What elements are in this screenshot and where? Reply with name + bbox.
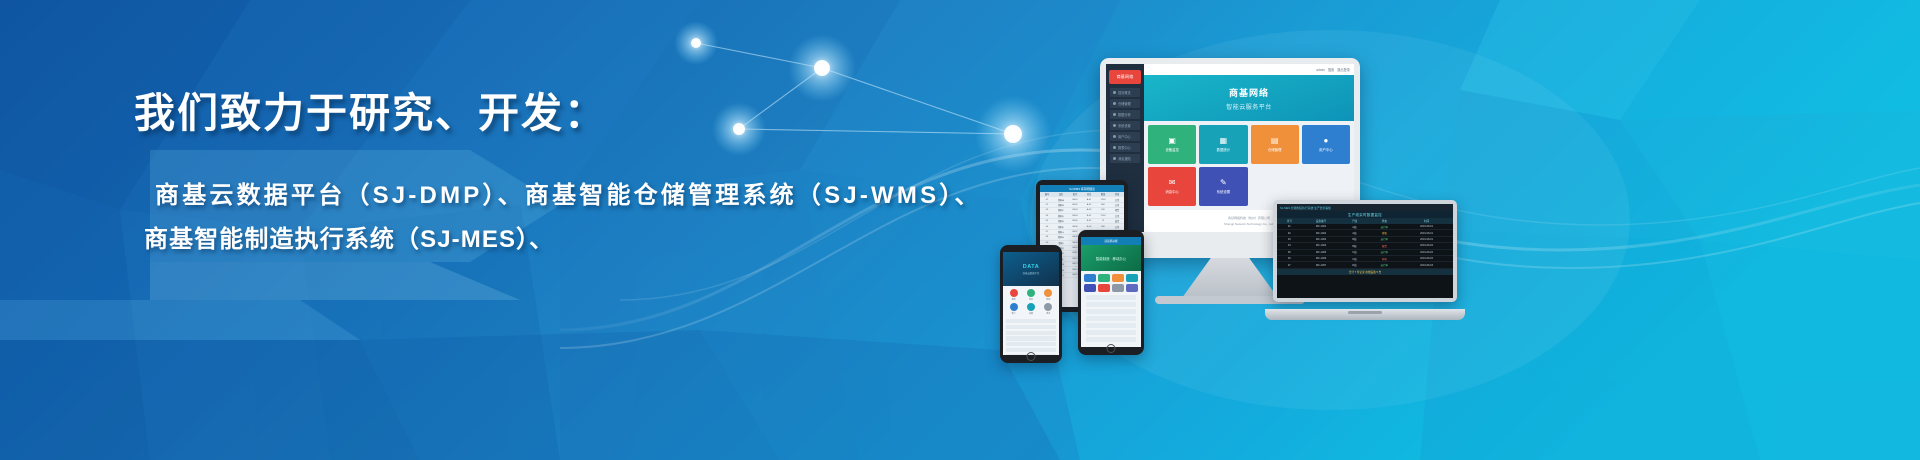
list-item[interactable] [1086, 330, 1136, 335]
mobile-banner-text: 智能制造 · 移动办公 [1096, 256, 1126, 261]
cell-time: 2019-08-02 [1400, 257, 1453, 260]
truck-icon [1044, 289, 1052, 297]
sidebar-item-0[interactable]: 首页概览 [1110, 88, 1140, 97]
list-item[interactable] [1086, 309, 1136, 314]
brand-logo: 商基网络 [1109, 70, 1141, 84]
table-cell: 06 [1040, 226, 1054, 228]
list-item[interactable] [1086, 337, 1136, 342]
gear-icon [1027, 303, 1035, 311]
table-cell: 物料A [1054, 198, 1068, 202]
phone-right-mockup: 商基移动端 智能制造 · 移动办公 [1078, 230, 1144, 355]
table-cell: 缺货 [1110, 219, 1124, 223]
table-cell: 物料F [1054, 225, 1068, 229]
cell-no: 07 [1277, 264, 1302, 267]
menu-item-5[interactable]: 更多 [1041, 303, 1056, 315]
list-item[interactable] [1086, 316, 1136, 321]
table-cell: 09 [1040, 242, 1054, 244]
dmp-hero: DATA 商基云数据平台 [1003, 252, 1059, 286]
cell-no: 05 [1277, 251, 1302, 254]
footer-line-0: 商基网络科技（杭州）有限公司 [1228, 216, 1270, 220]
col-3: 状态 [1369, 219, 1401, 223]
sidebar-label-0: 首页概览 [1118, 90, 1131, 95]
table-cell: 预警 [1110, 208, 1124, 212]
table-cell: 正常 [1110, 225, 1124, 229]
user-icon[interactable] [1112, 284, 1124, 292]
doc-icon [1113, 146, 1116, 149]
box-icon [1027, 289, 1035, 297]
chart-icon: ▦ [1220, 137, 1228, 145]
box-icon[interactable] [1112, 274, 1124, 282]
dashboard-topbar: admin 搜索 退出登录 [1144, 64, 1354, 75]
mobile-body [1081, 271, 1141, 347]
cell-time: 2019-08-02 [1400, 244, 1453, 247]
table-cell: 08 [1040, 236, 1054, 238]
tile-4[interactable]: ✉ 消息中心 [1148, 167, 1196, 206]
table-cell: 860 [1096, 204, 1110, 206]
mes-subtitle: 生产线实时数据监控 [1348, 212, 1382, 217]
list-item[interactable] [1006, 342, 1056, 346]
col-4: 数量 [1096, 192, 1110, 196]
tile-label-4: 消息中心 [1165, 189, 1179, 194]
user-icon [1010, 303, 1018, 311]
cell-time: 2019-08-02 [1400, 251, 1453, 254]
bell-icon[interactable] [1098, 284, 1110, 292]
home-button[interactable] [1107, 344, 1116, 353]
table-cell: 05 [1040, 220, 1054, 222]
cell-line: C线 [1340, 257, 1368, 261]
product-line-2: 商基智能制造执行系统（SJ-MES）、 [144, 228, 554, 252]
gear-icon [1113, 124, 1116, 127]
page-title: 我们致力于研究、开发： [134, 93, 607, 134]
table-cell: 07 [1040, 231, 1054, 233]
banner-copy: 我们致力于研究、开发： 商基云数据平台（SJ-DMP）、商基智能仓储管理系统（S… [0, 0, 980, 460]
status-badge: 运行中 [1369, 225, 1401, 229]
device-mockup-group: 商基网络 首页概览 仓储管理 [1000, 0, 1920, 460]
cell-code: MC-1001 [1302, 225, 1341, 228]
wms-titlebar: SJ-WMS 库存明细表 [1040, 185, 1124, 192]
menu-item-1[interactable]: 库存 [1023, 289, 1038, 301]
table-cell: 正常 [1110, 198, 1124, 202]
cell-code: MC-1006 [1302, 257, 1341, 260]
sidebar-item-1[interactable]: 仓储管理 [1110, 99, 1140, 108]
col-2: 批次 [1068, 192, 1082, 196]
list-item[interactable] [1006, 319, 1056, 323]
brand-name: 商基网络 [1117, 74, 1134, 80]
status-badge: 运行中 [1369, 250, 1401, 254]
menu-label-2: 物流 [1046, 298, 1050, 301]
tile-label-0: 设备监控 [1165, 147, 1179, 152]
table-cell: 物料E [1054, 219, 1068, 223]
table-cell: 04 [1040, 215, 1054, 217]
gear-icon[interactable] [1126, 274, 1138, 282]
more-icon [1044, 303, 1052, 311]
cell-line: B线 [1340, 237, 1368, 241]
status-badge: 运行中 [1369, 263, 1401, 267]
sidebar-label-6: 消息通知 [1118, 156, 1131, 161]
cell-code: MC-1005 [1302, 251, 1341, 254]
table-cell: 物料D [1054, 214, 1068, 218]
sidebar-item-4[interactable]: 用户中心 [1110, 132, 1140, 141]
table-cell: 物料C [1054, 208, 1068, 212]
more-icon[interactable] [1126, 284, 1138, 292]
col-2: 产线 [1340, 219, 1368, 223]
account-label[interactable]: admin [1316, 68, 1325, 72]
sidebar-label-1: 仓储管理 [1118, 101, 1131, 106]
sidebar-item-5[interactable]: 报表中心 [1110, 143, 1140, 152]
laptop-base [1265, 309, 1465, 320]
table-cell: 物料H [1054, 235, 1068, 239]
cell-line: D线 [1340, 263, 1368, 267]
product-line-1: 商基云数据平台（SJ-DMP）、商基智能仓储管理系统（SJ-WMS）、 [155, 184, 982, 208]
table-cell: 01 [1040, 199, 1054, 201]
promo-banner: 我们致力于研究、开发： 商基云数据平台（SJ-DMP）、商基智能仓储管理系统（S… [0, 0, 1920, 460]
table-cell: 1200 [1096, 199, 1110, 201]
laptop-screen: SJ-MES 智能制造执行系统 生产监控看板 生产线实时数据监控 序号 设备编号… [1277, 204, 1453, 298]
status-badge: 停机 [1369, 257, 1401, 261]
mobile-title: 商基移动端 [1105, 239, 1118, 243]
laptop-notch [1348, 311, 1382, 314]
list-item[interactable] [1086, 323, 1136, 328]
grid-icon [1113, 91, 1116, 94]
box-icon: ▤ [1271, 137, 1279, 145]
dmp-menu-grid: 报表 库存 物流 客户 [1003, 286, 1059, 318]
menu-label-1: 库存 [1029, 298, 1033, 301]
table-cell: A-02 [1082, 204, 1096, 206]
menu-label-3: 客户 [1012, 312, 1016, 315]
chart-icon [1010, 289, 1018, 297]
dashboard-hero: 商基网络 智能云服务平台 [1144, 75, 1354, 121]
table-cell: 物料I [1054, 241, 1068, 245]
table-cell: B-02 [1082, 220, 1096, 222]
hero-subtitle: 智能云服务平台 [1226, 102, 1272, 111]
col-1: 设备编号 [1302, 219, 1341, 223]
list-item[interactable] [1006, 331, 1056, 335]
menu-label-4: 设置 [1029, 312, 1033, 315]
table-cell: B006 [1068, 226, 1082, 228]
table-cell: B003 [1068, 209, 1082, 211]
tile-1[interactable]: ▦ 数据统计 [1199, 125, 1247, 164]
mobile-list [1084, 292, 1138, 347]
laptop-lid: SJ-MES 智能制造执行系统 生产监控看板 生产线实时数据监控 序号 设备编号… [1273, 200, 1457, 302]
mes-title: SJ-MES 智能制造执行系统 生产监控看板 [1280, 206, 1331, 210]
sidebar-item-2[interactable]: 数据分析 [1110, 110, 1140, 119]
hero-title: 商基网络 [1229, 86, 1269, 99]
record-count: 合计 7 条记录 在线设备 5 台 [1349, 270, 1381, 274]
table-cell: A-01 [1082, 199, 1096, 201]
user-icon: ● [1323, 137, 1328, 145]
mes-monitor: SJ-MES 智能制造执行系统 生产监控看板 生产线实时数据监控 序号 设备编号… [1277, 204, 1453, 298]
tile-3[interactable]: ● 用户中心 [1302, 125, 1350, 164]
cell-time: 2019-08-01 [1400, 232, 1453, 235]
status-badge: 报警 [1369, 244, 1401, 248]
table-cell: B005 [1068, 220, 1082, 222]
bell-icon [1113, 157, 1116, 160]
mes-titlebar: SJ-MES 智能制造执行系统 生产监控看板 [1277, 204, 1453, 211]
col-4: 时间 [1400, 219, 1453, 223]
tile-2[interactable]: ▤ 仓储管理 [1251, 125, 1299, 164]
cell-no: 01 [1277, 225, 1302, 228]
search-icon[interactable]: 搜索 [1328, 67, 1334, 72]
mes-footer: 合计 7 条记录 在线设备 5 台 [1277, 269, 1453, 275]
tile-label-3: 用户中心 [1319, 147, 1333, 152]
table-cell: 2100 [1096, 215, 1110, 217]
sidebar-label-3: 系统设置 [1118, 123, 1131, 128]
list-item[interactable] [1006, 325, 1056, 329]
phone-right-screen: 商基移动端 智能制造 · 移动办公 [1081, 237, 1141, 347]
cell-time: 2019-08-01 [1400, 238, 1453, 241]
cell-no: 02 [1277, 232, 1302, 235]
col-3: 库位 [1082, 192, 1096, 196]
doc-icon[interactable] [1084, 284, 1096, 292]
menu-item-4[interactable]: 设置 [1023, 303, 1038, 315]
tile-label-2: 仓储管理 [1268, 147, 1282, 152]
mobile-menu-grid [1084, 274, 1138, 292]
cell-line: B线 [1340, 244, 1368, 248]
mes-subtitle-bar: 生产线实时数据监控 [1277, 211, 1453, 218]
list-item[interactable] [1086, 302, 1136, 307]
home-icon[interactable] [1084, 274, 1096, 282]
menu-label-5: 更多 [1046, 312, 1050, 315]
cell-line: A线 [1340, 231, 1368, 235]
cell-time: 2019-08-01 [1400, 225, 1453, 228]
dmp-list [1003, 318, 1059, 355]
wms-title: SJ-WMS 库存明细表 [1069, 187, 1095, 191]
box-icon [1113, 102, 1116, 105]
menu-item-0[interactable]: 报表 [1006, 289, 1021, 301]
mobile-topbar: 商基移动端 [1081, 237, 1141, 245]
cell-code: MC-1007 [1302, 264, 1341, 267]
apple-logo-icon [1224, 239, 1236, 253]
table-cell: 75 [1096, 220, 1110, 222]
laptop-mockup: SJ-MES 智能制造执行系统 生产监控看板 生产线实时数据监控 序号 设备编号… [1265, 200, 1465, 320]
edit-icon: ✎ [1220, 179, 1227, 187]
dmp-hero-subtitle: 商基云数据平台 [1023, 271, 1040, 275]
dmp-hero-title: DATA [1023, 264, 1039, 270]
sidebar-label-2: 数据分析 [1118, 112, 1131, 117]
table-cell: B001 [1068, 199, 1082, 201]
table-cell: 02 [1040, 204, 1054, 206]
sidebar-item-3[interactable]: 系统设置 [1110, 121, 1140, 130]
table-cell: 430 [1096, 209, 1110, 211]
phone-left-mockup: DATA 商基云数据平台 报表 库存 物流 [1000, 245, 1062, 363]
table-cell: B002 [1068, 204, 1082, 206]
sidebar-label-4: 用户中心 [1118, 134, 1131, 139]
table-cell: B-01 [1082, 215, 1096, 217]
col-0: 编号 [1040, 192, 1054, 196]
col-1: 品名 [1054, 192, 1068, 196]
col-0: 序号 [1277, 219, 1302, 223]
cell-no: 04 [1277, 244, 1302, 247]
dashboard-tiles: ▣ 设备监控 ▦ 数据统计 ▤ 仓储管理 [1144, 121, 1354, 210]
user-icon [1113, 135, 1116, 138]
table-cell: 990 [1096, 226, 1110, 228]
phone-left-screen: DATA 商基云数据平台 报表 库存 物流 [1003, 252, 1059, 355]
menu-item-3[interactable]: 客户 [1006, 303, 1021, 315]
mobile-banner: 智能制造 · 移动办公 [1081, 245, 1141, 271]
cell-time: 2019-08-03 [1400, 264, 1453, 267]
home-button[interactable] [1027, 352, 1036, 361]
chart-icon [1113, 113, 1116, 116]
table-cell: B-03 [1082, 226, 1096, 228]
table-cell: 03 [1040, 209, 1054, 211]
tile-label-5: 系统设置 [1217, 189, 1231, 194]
list-item[interactable] [1006, 336, 1056, 340]
status-badge: 待机 [1369, 231, 1401, 235]
cell-code: MC-1004 [1302, 244, 1341, 247]
sidebar-item-6[interactable]: 消息通知 [1110, 154, 1140, 163]
alert-icon: ✉ [1169, 179, 1176, 187]
table-cell: 正常 [1110, 203, 1124, 207]
table-cell: 物料B [1054, 203, 1068, 207]
chart-icon[interactable] [1098, 274, 1110, 282]
table-cell: A-03 [1082, 209, 1096, 211]
cell-code: MC-1002 [1302, 232, 1341, 235]
tile-label-1: 数据统计 [1217, 147, 1231, 152]
logout-button[interactable]: 退出登录 [1337, 67, 1350, 72]
table-cell: 正常 [1110, 214, 1124, 218]
table-cell: B004 [1068, 215, 1082, 217]
monitor-icon: ▣ [1168, 137, 1176, 145]
status-badge: 运行中 [1369, 237, 1401, 241]
tile-0[interactable]: ▣ 设备监控 [1148, 125, 1196, 164]
cell-no: 06 [1277, 257, 1302, 260]
cell-code: MC-1003 [1302, 238, 1341, 241]
menu-label-0: 报表 [1012, 298, 1016, 301]
cell-line: C线 [1340, 250, 1368, 254]
cell-line: A线 [1340, 225, 1368, 229]
imac-stand [1182, 258, 1278, 298]
cell-no: 03 [1277, 238, 1302, 241]
table-cell: 物料G [1054, 230, 1068, 234]
tile-5[interactable]: ✎ 系统设置 [1199, 167, 1247, 206]
menu-item-2[interactable]: 物流 [1041, 289, 1056, 301]
col-5: 状态 [1110, 192, 1124, 196]
sidebar-label-5: 报表中心 [1118, 145, 1131, 150]
list-item[interactable] [1086, 295, 1136, 300]
